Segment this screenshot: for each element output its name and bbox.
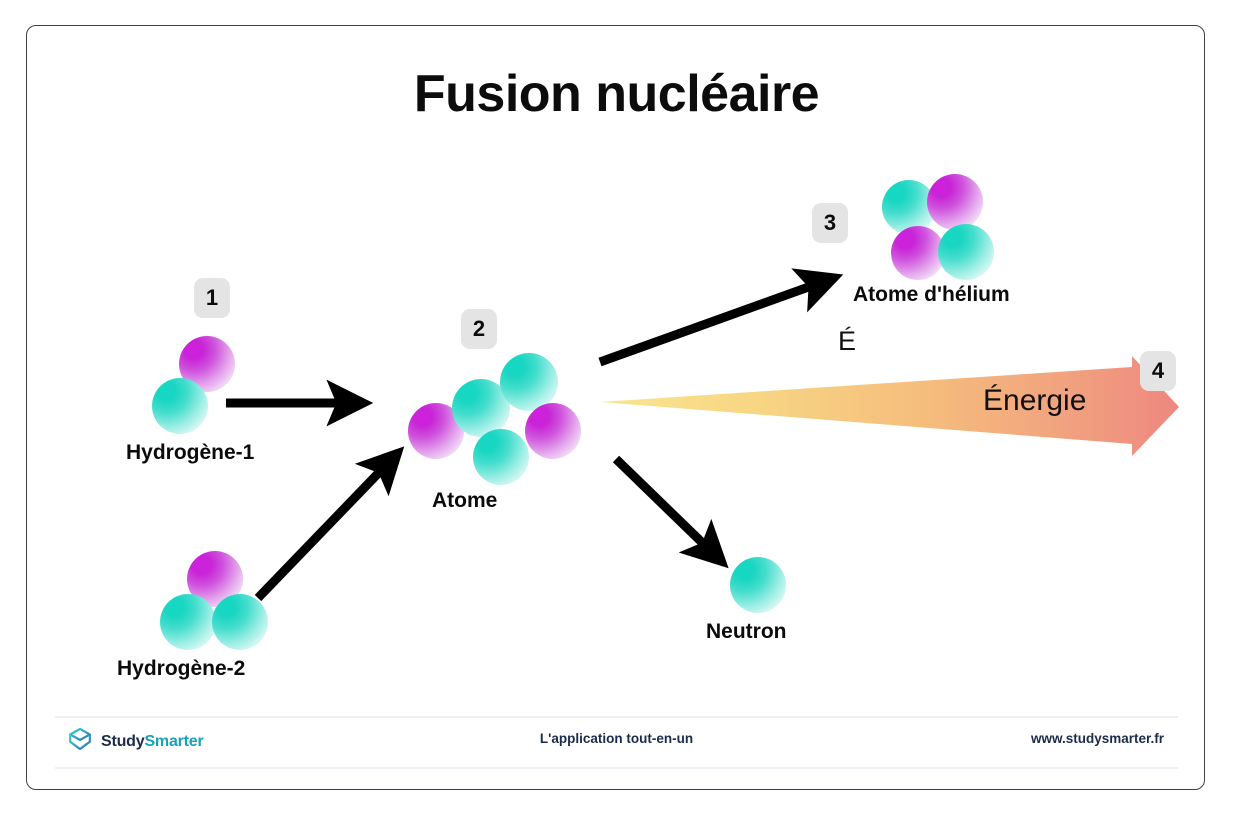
screenshot-root: Fusion nucléaire [0, 0, 1238, 824]
proton-sphere [891, 226, 945, 280]
neutron-sphere [938, 224, 994, 280]
energy-arrow-shape [600, 356, 1179, 456]
stray-e-acute-glyph: É [838, 326, 856, 357]
label-hydrogen-2: Hydrogène-2 [117, 657, 245, 681]
footer-url[interactable]: www.studysmarter.fr [1031, 731, 1164, 746]
proton-sphere [927, 174, 983, 230]
label-neutron: Neutron [706, 620, 787, 644]
neutron-sphere [152, 378, 208, 434]
footer-divider-bottom [55, 767, 1178, 769]
neutron-sphere [212, 594, 268, 650]
fusion-diagram: 1 2 3 4 Hydrogène-1 Hydrogène-2 [27, 26, 1206, 716]
step-badge-2: 2 [461, 309, 497, 349]
neutron-sphere [473, 429, 529, 485]
label-helium: Atome d'hélium [853, 283, 1010, 307]
neutron-sphere [730, 557, 786, 613]
neutron-sphere [160, 594, 216, 650]
label-atom: Atome [432, 489, 497, 513]
arrow-h2-to-atom [258, 458, 393, 598]
arrow-atom-to-helium [600, 280, 828, 362]
footer-tagline: L'application tout-en-un [27, 731, 1206, 746]
arrow-atom-to-neutron [616, 459, 717, 557]
diagram-card: Fusion nucléaire [26, 25, 1205, 790]
label-energie: Énergie [983, 384, 1086, 418]
footer: StudySmarter L'application tout-en-un ww… [27, 714, 1206, 789]
proton-sphere [525, 403, 581, 459]
label-hydrogen-1: Hydrogène-1 [126, 441, 254, 465]
step-badge-4: 4 [1140, 351, 1176, 391]
step-badge-1: 1 [194, 278, 230, 318]
step-badge-3: 3 [812, 203, 848, 243]
footer-divider-top [55, 716, 1178, 718]
